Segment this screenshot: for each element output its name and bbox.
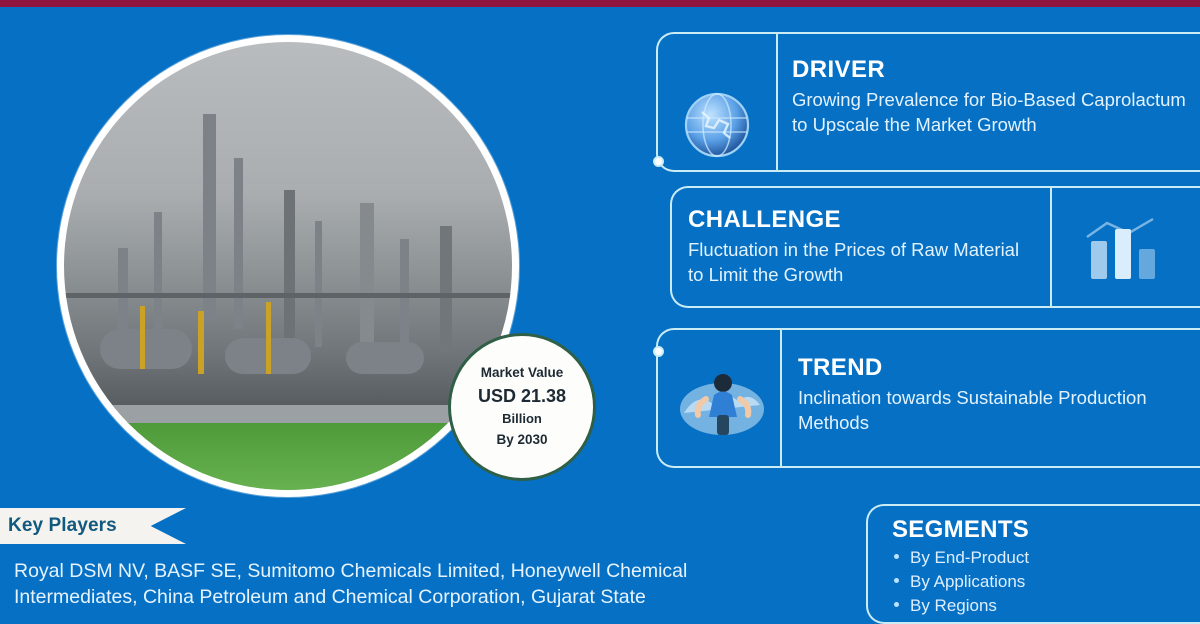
segments-title: SEGMENTS — [892, 516, 1200, 544]
globe-icon — [676, 84, 758, 166]
card-divider — [780, 328, 782, 468]
segments-list: By End-Product By Applications By Region… — [892, 546, 1200, 618]
connector-dot — [653, 156, 664, 167]
card-divider — [1050, 186, 1052, 308]
trend-body: Inclination towards Sustainable Producti… — [798, 386, 1198, 436]
challenge-body: Fluctuation in the Prices of Raw Materia… — [688, 238, 1038, 288]
connector-dot — [653, 346, 664, 357]
market-value-badge: Market Value USD 21.38 Billion By 2030 — [448, 333, 596, 481]
plant-grass — [64, 423, 512, 490]
card-divider — [776, 32, 778, 172]
driver-title: DRIVER — [792, 56, 1192, 84]
driver-body: Growing Prevalence for Bio-Based Caprola… — [792, 88, 1192, 138]
key-players-ribbon: Key Players — [0, 508, 186, 544]
challenge-text-block: CHALLENGE Fluctuation in the Prices of R… — [688, 206, 1038, 288]
key-players-label: Key Players — [8, 515, 117, 537]
segment-item[interactable]: By Applications — [892, 570, 1200, 594]
bar-chart-icon — [1070, 212, 1180, 288]
segment-item[interactable]: By Regions — [892, 594, 1200, 618]
segment-item[interactable]: By End-Product — [892, 546, 1200, 570]
industrial-chemical-plant-photo — [64, 42, 512, 490]
trend-title: TREND — [798, 354, 1198, 382]
market-value-year: By 2030 — [496, 432, 547, 449]
worker-person-icon — [674, 354, 770, 446]
market-value-amount: USD 21.38 — [478, 385, 566, 408]
card-challenge[interactable]: CHALLENGE Fluctuation in the Prices of R… — [670, 186, 1200, 308]
circular-photo-frame — [57, 35, 519, 497]
trend-text-block: TREND Inclination towards Sustainable Pr… — [798, 354, 1198, 436]
card-trend[interactable]: TREND Inclination towards Sustainable Pr… — [656, 328, 1200, 468]
market-value-label: Market Value — [481, 365, 564, 382]
market-value-unit: Billion — [502, 411, 542, 427]
card-segments[interactable]: SEGMENTS By End-Product By Applications … — [866, 504, 1200, 624]
challenge-title: CHALLENGE — [688, 206, 1038, 234]
card-driver[interactable]: DRIVER Growing Prevalence for Bio-Based … — [656, 32, 1200, 172]
driver-text-block: DRIVER Growing Prevalence for Bio-Based … — [792, 56, 1192, 138]
